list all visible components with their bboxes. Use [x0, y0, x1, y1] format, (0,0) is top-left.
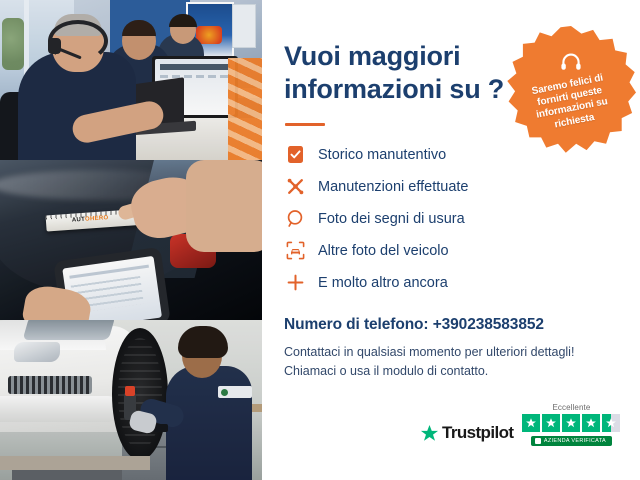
- phone-number-line: Numero di telefono: +390238583852: [284, 316, 616, 334]
- badge-text: Saremo felici di fornirti queste informa…: [515, 70, 626, 138]
- list-item-label: E molto altro ancora: [318, 275, 448, 291]
- list-item-label: Altre foto del veicolo: [318, 243, 449, 259]
- wrench-tools-icon: [284, 176, 306, 198]
- star-5-half: [602, 414, 620, 432]
- verified-check-icon: [535, 438, 541, 444]
- title-divider: [285, 123, 325, 126]
- list-item: Altre foto del veicolo: [284, 240, 616, 262]
- magnifier-icon: [284, 208, 306, 230]
- contact-description: Contattaci in qualsiasi momento per ulte…: [284, 343, 616, 381]
- star-3: [562, 414, 580, 432]
- list-item-label: Manutenzioni effettuate: [318, 179, 468, 195]
- contact-description-line-2: Chiamaci o usa il modulo di contatto.: [284, 362, 616, 381]
- photo-overlay: [0, 160, 262, 320]
- page-title: Vuoi maggiori informazioni su ?: [284, 40, 516, 106]
- verified-company-label: AZIENDA VERIFICATA: [544, 438, 606, 444]
- photo-overlay: [0, 0, 262, 160]
- advertisement-banner: AUTOHERO: [0, 0, 640, 480]
- list-item-label: Foto dei segni di usura: [318, 211, 465, 227]
- plus-icon: [284, 272, 306, 294]
- trustpilot-rating-label: Eccellente: [552, 403, 590, 412]
- photo-column: AUTOHERO: [0, 0, 262, 480]
- content-panel: Vuoi maggiori informazioni su ? Storico …: [262, 0, 640, 480]
- car-inspection-ruler-photo: AUTOHERO: [0, 160, 262, 320]
- mechanic-wheel-inspection-photo: [0, 320, 262, 480]
- list-item: E molto altro ancora: [284, 272, 616, 294]
- trustpilot-logo: Trustpilot: [420, 423, 513, 446]
- star-rating: [522, 414, 620, 432]
- trustpilot-wordmark: Trustpilot: [442, 423, 513, 443]
- photo-overlay: [0, 320, 262, 480]
- star-4: [582, 414, 600, 432]
- headline-line-1: Vuoi maggiori: [284, 41, 460, 71]
- star-2: [542, 414, 560, 432]
- list-item: Foto dei segni di usura: [284, 208, 616, 230]
- trustpilot-rating[interactable]: Trustpilot Eccellente: [420, 403, 620, 446]
- trustpilot-score: Eccellente: [522, 403, 620, 446]
- call-center-agent-photo: [0, 0, 262, 160]
- star-1: [522, 414, 540, 432]
- checklist-document-icon: [284, 144, 306, 166]
- headline-line-2: informazioni su ?: [284, 74, 504, 104]
- list-item-label: Storico manutentivo: [318, 147, 446, 163]
- verified-company-badge: AZIENDA VERIFICATA: [531, 436, 612, 446]
- list-item: Manutenzioni effettuate: [284, 176, 616, 198]
- trustpilot-star-icon: [420, 424, 439, 443]
- headset-icon: [560, 52, 582, 77]
- car-photo-scan-icon: [284, 240, 306, 262]
- info-on-request-badge: Saremo felici di fornirti queste informa…: [506, 26, 636, 154]
- contact-description-line-1: Contattaci in qualsiasi momento per ulte…: [284, 343, 616, 362]
- feature-list: Storico manutentivo Manutenzioni effettu…: [284, 144, 616, 294]
